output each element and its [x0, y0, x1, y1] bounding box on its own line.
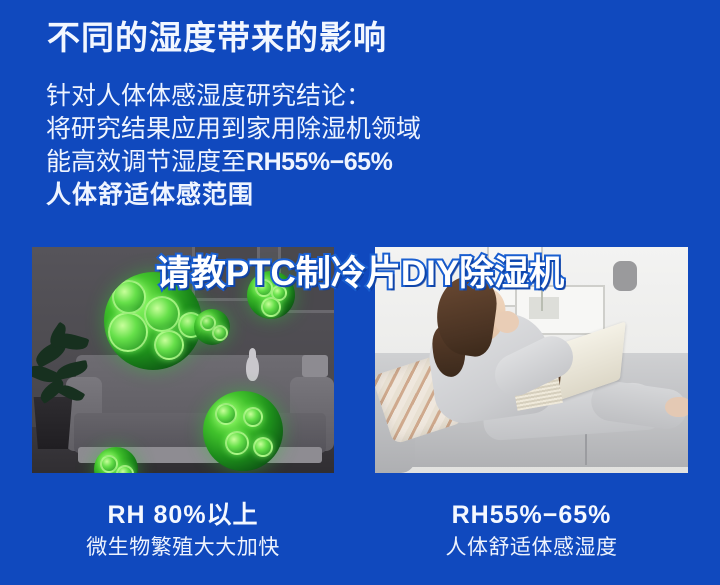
caption-comfort-humidity: RH55%−65% 人体舒适体感湿度: [375, 500, 688, 562]
plant-pot: [32, 397, 74, 449]
caption-comfort-humidity-value: RH55%−65%: [375, 500, 688, 530]
intro-line-4: 人体舒适体感范围: [46, 179, 486, 212]
microbe-cluster-icon: [194, 309, 230, 345]
caption-high-humidity-value: RH 80%以上: [32, 500, 334, 530]
person-hand: [495, 311, 519, 333]
caption-high-humidity: RH 80%以上 微生物繁殖大大加快: [32, 500, 334, 562]
intro-line-1: 针对人体体感湿度研究结论：: [46, 80, 486, 113]
intro-line-2: 将研究结果应用到家用除湿机领域: [46, 113, 486, 146]
intro-line-3: 能高效调节湿度至RH55%−65%: [46, 146, 486, 179]
humidity-range-value: RH55%−65%: [246, 148, 392, 176]
caption-comfort-humidity-desc: 人体舒适体感湿度: [375, 534, 688, 562]
microbe-cluster-icon: [203, 391, 283, 471]
page-title: 不同的湿度带来的影响: [47, 18, 387, 58]
caption-high-humidity-desc: 微生物繁殖大大加快: [32, 534, 334, 562]
overlay-title: 请教PTC制冷片DIY除湿机: [0, 252, 720, 295]
poster-root: 不同的湿度带来的影响 针对人体体感湿度研究结论： 将研究结果应用到家用除湿机领域…: [0, 0, 720, 585]
side-cushion: [302, 355, 328, 377]
decor-vase: [246, 355, 259, 381]
intro-text-block: 针对人体体感湿度研究结论： 将研究结果应用到家用除湿机领域 能高效调节湿度至RH…: [46, 80, 486, 212]
intro-line-3-plain: 能高效调节湿度至: [46, 148, 246, 176]
person-foot: [665, 397, 688, 417]
